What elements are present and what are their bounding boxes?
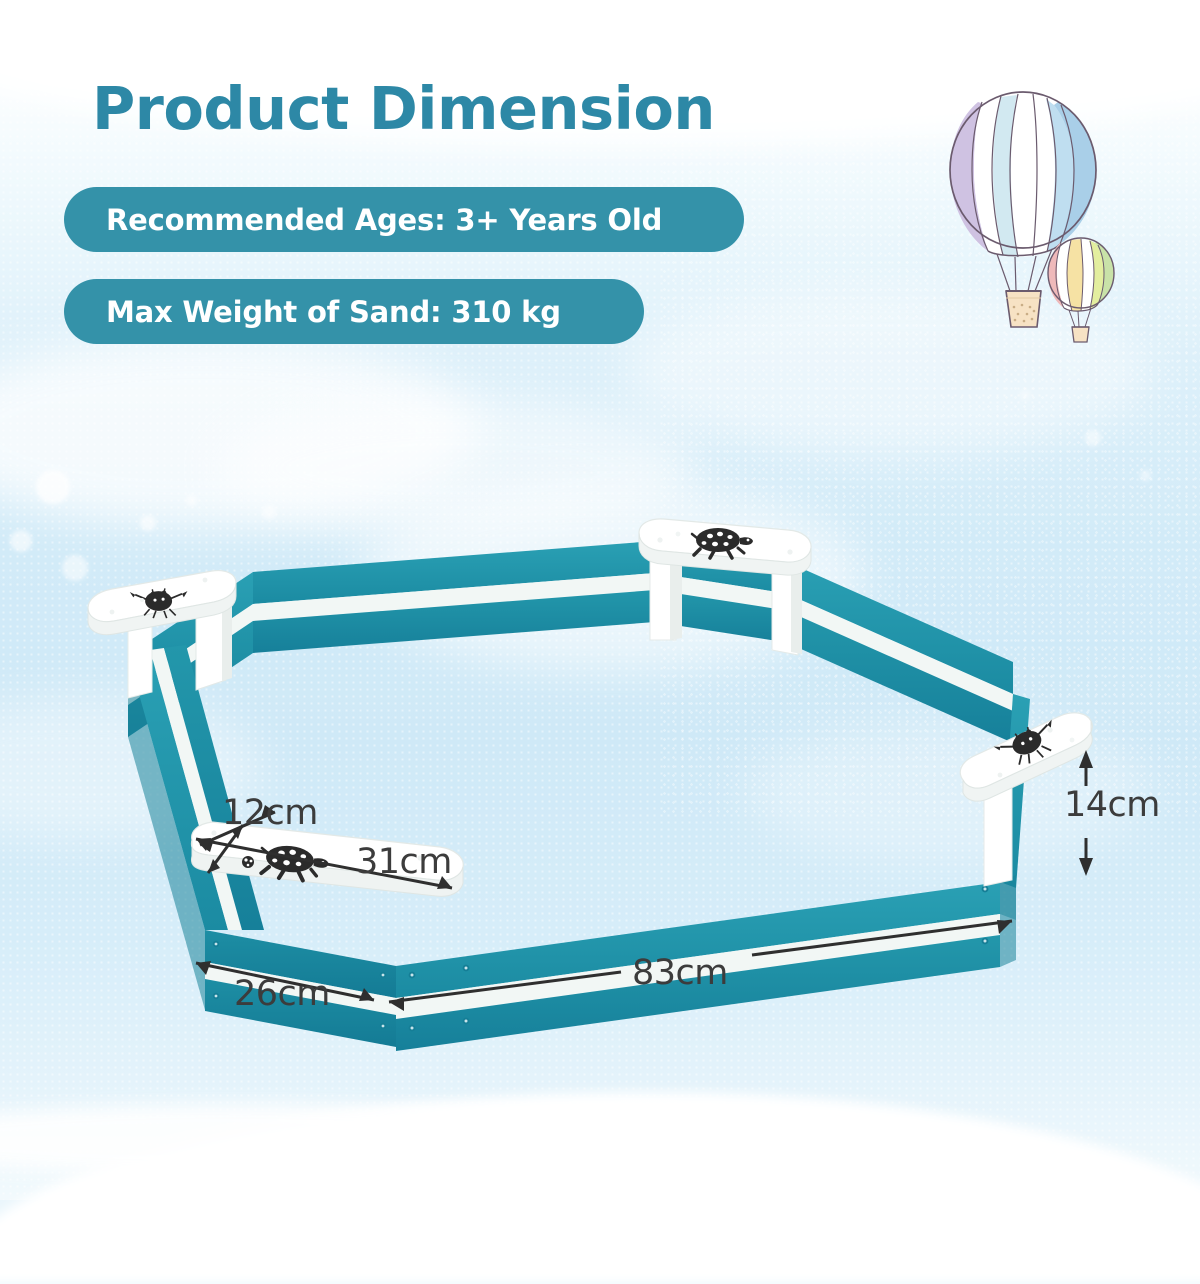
dimension-label-side-long: 83cm: [632, 953, 728, 993]
dimension-label-seat-depth: 12cm: [222, 793, 318, 833]
wall-rear-top: [253, 541, 655, 653]
wall-rear-right: [783, 560, 1013, 743]
badge-recommended-ages: Recommended Ages: 3+ Years Old: [64, 187, 744, 252]
badge-label: Max Weight of Sand: 310 kg: [106, 295, 561, 329]
dimension-label-side-short: 26cm: [234, 974, 330, 1014]
page-title: Product Dimension: [92, 74, 715, 143]
bolt-detail: [242, 856, 254, 868]
badge-label: Recommended Ages: 3+ Years Old: [106, 203, 662, 237]
hot-air-balloons-decoration: [900, 55, 1130, 350]
small-balloon-icon: [1048, 238, 1114, 342]
dimension-label-seat-length: 31cm: [356, 842, 452, 882]
dimension-label-wall-height: 14cm: [1064, 785, 1160, 825]
badge-max-weight: Max Weight of Sand: 310 kg: [64, 279, 644, 344]
